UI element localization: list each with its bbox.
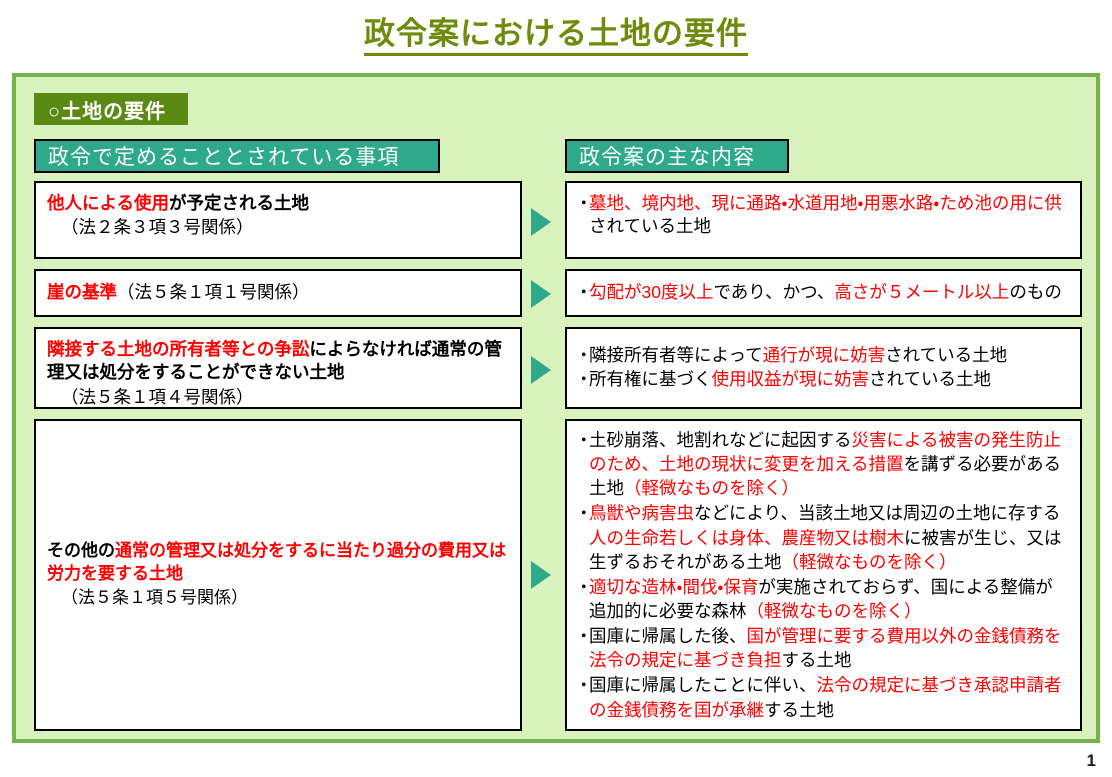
- row-left-text: 隣接する土地の所有者等との争訟によらなければ通常の管理又は処分をすることができな…: [36, 329, 520, 409]
- bullet-list: 隣接所有者等によって通行が現に妨害されている土地所有権に基づく使用収益が現に妨害…: [578, 344, 1070, 393]
- slide-root: 政令案における土地の要件 ○土地の要件 政令で定めることとされている事項 政令案…: [0, 0, 1112, 777]
- bullet-item: 墓地、境内地、現に通路・水道用地・用悪水路・ため池の用に供されている土地: [578, 192, 1070, 239]
- page-number: 1: [1087, 751, 1096, 771]
- table-row: 他人による使用が予定される土地 （法２条３項３号関係） 墓地、境内地、現に通路・…: [34, 181, 1082, 259]
- text-run: する土地: [764, 700, 834, 720]
- bullet-item: 土砂崩落、地割れなどに起因する災害による被害の発生防止のため、土地の現状に変更を…: [578, 428, 1070, 500]
- left-reference: （法２条３項３号関係）: [47, 216, 510, 239]
- text-run: 国庫に帰属した後、: [589, 626, 747, 646]
- page-title: 政令案における土地の要件: [0, 8, 1112, 53]
- text-run: 国庫に帰属したことに伴い、: [589, 675, 817, 695]
- row-right-cell: 墓地、境内地、現に通路・水道用地・用悪水路・ため池の用に供されている土地: [565, 181, 1082, 259]
- text-run: 所有権に基づく: [589, 369, 712, 389]
- bullet-list: 土砂崩落、地割れなどに起因する災害による被害の発生防止のため、土地の現状に変更を…: [578, 428, 1070, 722]
- row-left-text: 崖の基準（法５条１項１号関係）: [36, 271, 520, 315]
- left-black-lead: が予定される土地: [169, 193, 309, 213]
- text-run: 勾配が30度以上: [589, 282, 713, 302]
- column-header-left: 政令で定めることとされている事項: [34, 139, 440, 173]
- text-run: されている土地: [885, 345, 1007, 365]
- left-red-lead: 崖の基準: [47, 282, 117, 302]
- row-left-cell: 他人による使用が予定される土地 （法２条３項３号関係）: [34, 181, 522, 259]
- text-run: する土地: [782, 650, 852, 670]
- arrow-right-icon: [531, 280, 551, 308]
- left-red-lead: 他人による使用: [47, 193, 169, 213]
- requirement-rows: 他人による使用が予定される土地 （法２条３項３号関係） 墓地、境内地、現に通路・…: [34, 181, 1082, 731]
- text-run: 墓地、境内地、現に通路・水道用地・用悪水路・ため池の用に供: [589, 193, 1062, 213]
- text-run: 隣接所有者等によって: [589, 345, 763, 365]
- row-right-text: 勾配が30度以上であり、かつ、高さが５メートル以上のもの: [567, 271, 1080, 315]
- left-reference: （法５条１項４号関係）: [47, 386, 510, 409]
- table-row: その他の通常の管理又は処分をするに当たり過分の費用又は労力を要する土地 （法５条…: [34, 419, 1082, 731]
- text-run: であり、かつ、: [713, 282, 834, 302]
- text-run: 人の生命若しくは身体、農産物又は樹木: [589, 528, 904, 548]
- row-right-cell: 土砂崩落、地割れなどに起因する災害による被害の発生防止のため、土地の現状に変更を…: [565, 419, 1082, 731]
- section-banner: ○土地の要件: [34, 93, 188, 125]
- bullet-item: 勾配が30度以上であり、かつ、高さが５メートル以上のもの: [578, 281, 1070, 304]
- content-panel: ○土地の要件 政令で定めることとされている事項 政令案の主な内容 他人による使用…: [12, 73, 1100, 743]
- table-row: 隣接する土地の所有者等との争訟によらなければ通常の管理又は処分をすることができな…: [34, 327, 1082, 409]
- row-left-text: その他の通常の管理又は処分をするに当たり過分の費用又は労力を要する土地 （法５条…: [36, 421, 520, 729]
- text-run: 使用収益が現に妨害: [712, 369, 870, 389]
- text-run: 通行が現に妨害: [763, 345, 886, 365]
- left-reference: （法５条１項５号関係）: [47, 587, 510, 610]
- bullet-item: 国庫に帰属したことに伴い、法令の規定に基づき承認申請者の金銭債務を国が承継する土…: [578, 673, 1070, 721]
- text-run: 鳥獣や病害虫: [589, 503, 694, 523]
- table-row: 崖の基準（法５条１項１号関係） 勾配が30度以上であり、かつ、高さが５メートル以…: [34, 269, 1082, 317]
- text-run: （軽微なものを除く）: [782, 552, 957, 572]
- text-run: などにより、当該土地又は周辺の土地に存する: [694, 503, 1060, 523]
- row-left-cell: その他の通常の管理又は処分をするに当たり過分の費用又は労力を要する土地 （法５条…: [34, 419, 522, 731]
- arrow-right-icon: [531, 356, 551, 384]
- left-black-lead: その他の: [47, 541, 115, 560]
- row-right-text: 隣接所有者等によって通行が現に妨害されている土地所有権に基づく使用収益が現に妨害…: [567, 329, 1080, 407]
- bullet-list: 墓地、境内地、現に通路・水道用地・用悪水路・ため池の用に供されている土地: [578, 192, 1070, 239]
- row-left-cell: 隣接する土地の所有者等との争訟によらなければ通常の管理又は処分をすることができな…: [34, 327, 522, 409]
- text-run: されている土地: [589, 216, 711, 236]
- bullet-list: 勾配が30度以上であり、かつ、高さが５メートル以上のもの: [578, 281, 1070, 305]
- text-run: のもの: [1009, 282, 1062, 302]
- text-run: （軽微なものを除く）: [624, 478, 799, 498]
- text-run: されている土地: [869, 369, 991, 389]
- arrow-right-icon: [531, 208, 551, 236]
- row-right-cell: 勾配が30度以上であり、かつ、高さが５メートル以上のもの: [565, 269, 1082, 317]
- text-run: 高さが５メートル以上: [834, 282, 1009, 302]
- left-reference: （法５条１項１号関係）: [117, 282, 310, 302]
- bullet-item: 所有権に基づく使用収益が現に妨害されている土地: [578, 368, 1070, 391]
- row-right-text: 土砂崩落、地割れなどに起因する災害による被害の発生防止のため、土地の現状に変更を…: [567, 421, 1080, 729]
- page-title-text: 政令案における土地の要件: [364, 16, 748, 56]
- arrow-right-icon: [531, 561, 551, 589]
- text-run: 適切な造林・間伐・保育: [589, 577, 758, 597]
- row-left-cell: 崖の基準（法５条１項１号関係）: [34, 269, 522, 317]
- text-run: （軽微なものを除く）: [747, 601, 922, 621]
- row-left-text: 他人による使用が予定される土地 （法２条３項３号関係）: [36, 183, 520, 246]
- row-right-cell: 隣接所有者等によって通行が現に妨害されている土地所有権に基づく使用収益が現に妨害…: [565, 327, 1082, 409]
- left-red-lead: 通常の管理又は処分をするに当たり過分の費用又は労力を要する土地: [47, 541, 506, 583]
- text-run: 土砂崩落、地割れなどに起因する: [589, 430, 852, 450]
- bullet-item: 国庫に帰属した後、国が管理に要する費用以外の金銭債務を法令の規定に基づき負担する…: [578, 624, 1070, 672]
- bullet-item: 隣接所有者等によって通行が現に妨害されている土地: [578, 344, 1070, 367]
- column-header-right: 政令案の主な内容: [565, 139, 789, 173]
- bullet-item: 適切な造林・間伐・保育が実施されておらず、国による整備が追加的に必要な森林（軽微…: [578, 575, 1070, 623]
- row-right-text: 墓地、境内地、現に通路・水道用地・用悪水路・ため池の用に供されている土地: [567, 183, 1080, 246]
- left-red-lead: 隣接する土地の所有者等との争訟: [47, 339, 309, 359]
- bullet-item: 鳥獣や病害虫などにより、当該土地又は周辺の土地に存する人の生命若しくは身体、農産…: [578, 501, 1070, 573]
